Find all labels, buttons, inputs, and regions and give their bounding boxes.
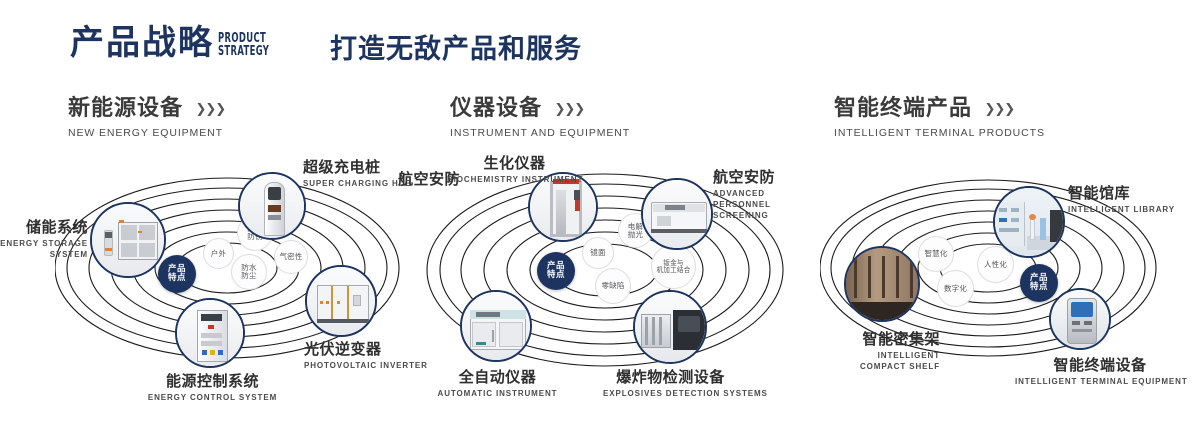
node-advanced-personnel-screening[interactable] (641, 178, 713, 250)
feature-bubble-2-2-l1: 数字化 (944, 285, 967, 293)
caption-cn-0-3: 能源控制系统 (100, 372, 325, 390)
core-bubble-line2-1: 特点 (547, 271, 565, 280)
diagram-new-energy: 产品 特点 户外 防腐 防锈 防水 防尘 气密性 (55, 150, 400, 390)
smart-library-photo (995, 188, 1063, 256)
diagram-instrument: 产品 特点 镜面 电解 抛光 零缺陷 钣金与 机加工结合 航空安防 (425, 150, 785, 390)
caption-cn-0-0: 储能系统 (0, 218, 88, 236)
section-heading-intelligent-terminal: 智能终端产品 ❯❯❯ INTELLIGENT TERMINAL PRODUCTS (834, 96, 1045, 139)
section-title-cn-1: 仪器设备 (450, 96, 542, 122)
node-automatic-instrument[interactable] (460, 290, 532, 362)
core-bubble-line2-2: 特点 (1030, 283, 1048, 292)
feature-bubble-mirror-finish[interactable]: 镜面 (582, 237, 614, 269)
node-intelligent-terminal-equipment[interactable] (1049, 288, 1111, 350)
explosives-detector-photo (635, 292, 705, 362)
core-bubble-instrument[interactable]: 产品 特点 (537, 252, 575, 290)
caption-cn-1-2: 航空安防 (713, 168, 809, 186)
feature-bubble-sheetmetal-machining[interactable]: 钣金与 机加工结合 (651, 244, 696, 289)
caption-en-2-1: INTELLIGENT COMPACT SHELF (830, 350, 940, 372)
caption-intelligent-compact-shelf: 智能密集架 INTELLIGENT COMPACT SHELF (830, 330, 940, 372)
caption-cn-1-1: 生化仪器 (447, 154, 582, 172)
caption-photovoltaic-inverter: 光伏逆变器 PHOTOVOLTAIC INVERTER (304, 340, 428, 371)
feature-bubble-2-0-l1: 智慧化 (924, 250, 947, 258)
node-photovoltaic-inverter[interactable] (305, 265, 377, 337)
node-super-charging-hub[interactable] (238, 172, 306, 240)
section-title-en-0: NEW ENERGY EQUIPMENT (68, 127, 225, 139)
caption-en-0-0: ENERGY STORAGE SYSTEM (0, 238, 88, 260)
caption-intelligent-terminal-equipment: 智能终端设备 INTELLIGENT TERMINAL EQUIPMENT (1015, 356, 1185, 387)
diagram-intelligent-terminal: 产品 特点 智慧化 人性化 数字化 (820, 160, 1160, 390)
page-header: 产品战略 PRODUCT STRATEGY 打造无敌产品和服务 (0, 0, 1200, 88)
feature-bubble-smart[interactable]: 智慧化 (918, 236, 954, 272)
caption-en-0-2: PHOTOVOLTAIC INVERTER (304, 360, 428, 371)
battery-cabinet-photo (92, 204, 164, 276)
feature-bubble-2-1-l1: 人性化 (984, 261, 1007, 269)
caption-en-1-1: BIOCHEMISTRY INSTRUMENT (447, 174, 582, 185)
feature-bubble-1-2-l1: 零缺陷 (601, 282, 624, 290)
caption-en-2-2: INTELLIGENT TERMINAL EQUIPMENT (1015, 376, 1185, 387)
caption-en-1-4: AUTOMATIC INSTRUMENT (425, 388, 570, 399)
section-title-en-1: INSTRUMENT AND EQUIPMENT (450, 127, 630, 139)
feature-bubble-0-l1: 户外 (211, 250, 226, 258)
caption-cn-2-1: 智能密集架 (830, 330, 940, 348)
charging-pile-photo (240, 174, 304, 238)
section-heading-instrument: 仪器设备 ❯❯❯ INSTRUMENT AND EQUIPMENT (450, 96, 630, 139)
caption-automatic-instrument: 全自动仪器 AUTOMATIC INSTRUMENT (425, 368, 570, 399)
feature-bubble-outdoor[interactable]: 户外 (203, 238, 234, 269)
caption-energy-storage-system: 储能系统 ENERGY STORAGE SYSTEM (0, 218, 88, 260)
caption-cn-1-3: 爆炸物检测设备 (603, 368, 738, 386)
section-title-cn-0: 新能源设备 (68, 96, 183, 122)
node-intelligent-library[interactable] (993, 186, 1065, 258)
feature-bubble-2-l2: 防尘 (241, 272, 256, 280)
core-bubble-line2-0: 特点 (168, 274, 186, 283)
caption-cn-1-4: 全自动仪器 (425, 368, 570, 386)
caption-en-1-3: EXPLOSIVES DETECTION SYSTEMS (603, 388, 738, 399)
chevrons-right-icon-2: ❯❯❯ (984, 101, 1014, 117)
caption-intelligent-library: 智能馆库 INTELLIGENT LIBRARY (1068, 184, 1175, 215)
automatic-instrument-photo (462, 292, 530, 360)
feature-bubble-waterproof[interactable]: 防水 防尘 (231, 254, 267, 290)
feature-bubble-1-0-l1: 镜面 (590, 249, 605, 257)
feature-bubble-1-1-l2: 抛光 (628, 231, 643, 239)
feature-bubble-3-l1: 气密性 (279, 253, 302, 261)
section-title-cn-2: 智能终端产品 (834, 96, 972, 122)
caption-energy-control-system: 能源控制系统 ENERGY CONTROL SYSTEM (100, 372, 325, 403)
caption-advanced-personnel-screening: 航空安防 ADVANCED PERSONNEL SCREENING (713, 168, 809, 221)
chevrons-right-icon-1: ❯❯❯ (554, 101, 584, 117)
analyzer-photo (643, 180, 711, 248)
caption-explosives-detection-systems: 爆炸物检测设备 EXPLOSIVES DETECTION SYSTEMS (603, 368, 738, 399)
node-energy-control-system[interactable] (175, 298, 245, 368)
feature-bubble-airtight[interactable]: 气密性 (274, 240, 308, 274)
feature-bubble-1-3-l2: 机加工结合 (657, 267, 691, 274)
control-cabinet-photo (177, 300, 243, 366)
section-heading-new-energy: 新能源设备 ❯❯❯ NEW ENERGY EQUIPMENT (68, 96, 225, 139)
caption-en-2-0: INTELLIGENT LIBRARY (1068, 204, 1175, 215)
page-title-english: PRODUCT STRATEGY (218, 32, 269, 58)
node-energy-storage-system[interactable] (90, 202, 166, 278)
feature-bubble-digitalized[interactable]: 数字化 (937, 270, 974, 307)
chevrons-right-icon-0: ❯❯❯ (195, 101, 225, 117)
caption-en-1-2: ADVANCED PERSONNEL SCREENING (713, 188, 809, 221)
pv-inverter-photo (307, 267, 375, 335)
caption-cn-2-0: 智能馆库 (1068, 184, 1175, 202)
page-title-english-line2: STRATEGY (218, 45, 269, 58)
node-explosives-detection-systems[interactable] (633, 290, 707, 364)
node-intelligent-compact-shelf[interactable] (844, 246, 920, 322)
smart-kiosk-photo (1051, 290, 1109, 348)
caption-cn-2-2: 智能终端设备 (1015, 356, 1185, 374)
caption-biochemistry-instrument: 生化仪器 BIOCHEMISTRY INSTRUMENT (447, 154, 582, 185)
feature-bubble-zero-defect[interactable]: 零缺陷 (595, 268, 631, 304)
page-subtitle: 打造无敌产品和服务 (330, 36, 582, 63)
caption-cn-0-2: 光伏逆变器 (304, 340, 428, 358)
section-title-en-2: INTELLIGENT TERMINAL PRODUCTS (834, 127, 1045, 139)
compact-shelf-photo (846, 248, 918, 320)
caption-en-0-3: ENERGY CONTROL SYSTEM (100, 392, 325, 403)
page-title: 产品战略 (70, 26, 214, 60)
